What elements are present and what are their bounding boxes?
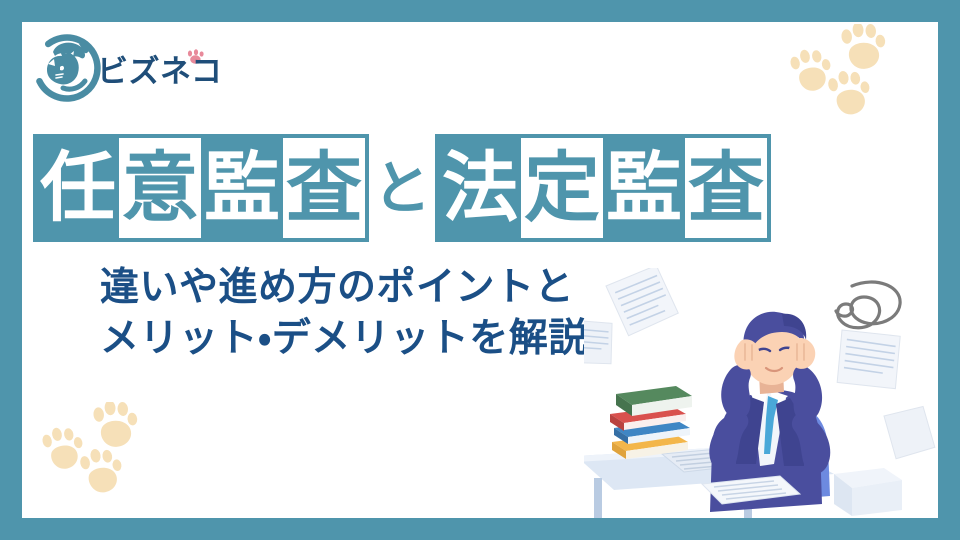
title-char-3: 監 <box>201 138 283 238</box>
stacked-books <box>610 386 692 459</box>
inner-white-card: ビズネコ <box>22 22 938 518</box>
flying-paper <box>604 268 680 338</box>
title-char-4: 査 <box>283 138 365 238</box>
site-logo[interactable]: ビズネコ <box>33 32 263 106</box>
paw-prints-bottom-left <box>32 402 182 512</box>
title-char-6: 定 <box>521 138 603 238</box>
title-char-5: 法 <box>439 138 521 238</box>
logo-wordmark: ビズネコ <box>97 48 257 92</box>
flying-paper <box>584 316 618 370</box>
flying-paper <box>883 406 935 460</box>
title-band-right: 法 定 監 査 <box>435 134 771 242</box>
title-char-1: 任 <box>37 138 119 238</box>
svg-text:ビズネコ: ビズネコ <box>97 54 222 90</box>
page-title: 任 意 監 査 と 法 定 監 査 <box>33 134 771 242</box>
flying-paper <box>829 322 908 396</box>
title-char-8: 査 <box>685 138 767 238</box>
page-subtitle: 違いや進め方のポイントと メリット・デメリットを解説 <box>100 262 588 365</box>
cat-circle-logo-icon <box>33 34 101 102</box>
title-band-left: 任 意 監 査 <box>33 134 369 242</box>
title-conjunction: と <box>369 134 435 242</box>
confusion-scribble-icon <box>836 282 900 328</box>
thumbnail-canvas: ビズネコ <box>0 0 960 540</box>
paper-box <box>834 468 902 516</box>
stressed-businessman-illustration <box>584 268 938 518</box>
title-char-2: 意 <box>119 138 201 238</box>
title-char-7: 監 <box>603 138 685 238</box>
paw-prints-top-right <box>780 24 930 134</box>
